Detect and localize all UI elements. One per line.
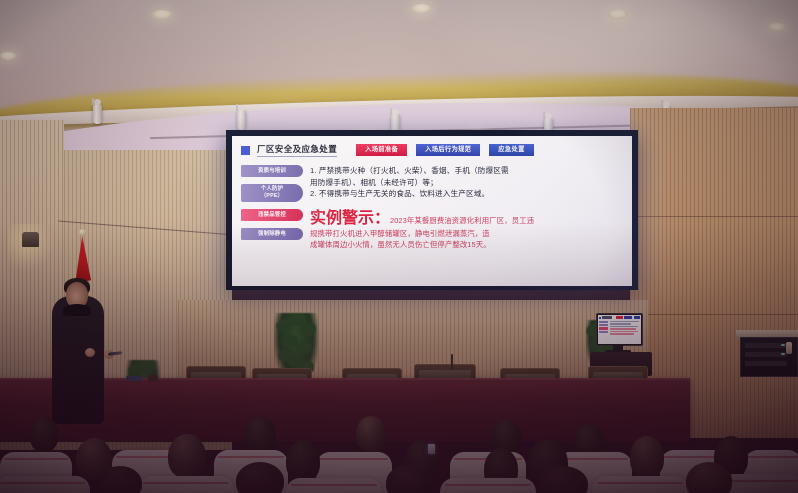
- monitor-screen-content: [598, 315, 641, 344]
- audience-head: [30, 418, 58, 452]
- audience-seat[interactable]: [440, 478, 536, 493]
- monitor-mini-body: [599, 321, 640, 335]
- slide-line: 用防爆手机）、相机（未经许可）等；: [310, 177, 623, 189]
- slide-text-block: 1. 严禁携带火种（打火机、火柴）、香烟、手机（防爆区需 用防爆手机）、相机（未…: [310, 165, 623, 250]
- audience-head: [630, 436, 664, 478]
- warning-line: 规携带打火机进入甲醇储罐区，静电引燃泄漏蒸汽，造: [310, 228, 623, 239]
- audience-seat[interactable]: [286, 478, 382, 493]
- monitor-mini-sidebar: [599, 321, 608, 335]
- monitor-mini-pill: [599, 327, 608, 329]
- audience-head: [236, 462, 284, 493]
- podium-item: [148, 375, 158, 381]
- slide-title: 厂区安全及应急处置: [257, 143, 337, 157]
- presenter-hand: [85, 348, 95, 357]
- downlight-icon: [152, 10, 172, 19]
- presenter-collar: [63, 304, 91, 316]
- downlight-icon: [608, 10, 628, 19]
- slide-warning-block: 实例警示：2023年某餐厨费油资源化利用厂区，员工违 规携带打火机进入甲醇储罐区…: [310, 204, 623, 250]
- audience-head: [168, 434, 206, 478]
- sidebar-item-qualification-training[interactable]: 资质与培训: [241, 165, 303, 177]
- sidebar-item-prohibited-items[interactable]: 违禁品管控: [241, 209, 303, 221]
- audience-head: [98, 466, 142, 493]
- audience-seat[interactable]: [592, 476, 688, 493]
- audience-head: [244, 416, 276, 454]
- audience-head: [686, 462, 732, 493]
- rack-status-led: [781, 344, 785, 346]
- warning-line: 成罐体周边小火情，虽然无人员伤亡但停产整改15天。: [310, 239, 623, 250]
- warning-line: 2023年某餐厨费油资源化利用厂区，员工违: [390, 216, 534, 225]
- meeting-room-scene: 厂区安全及应急处置 入场前准备 入场后行为规范 应急处置 资质与培训 个人防护（…: [0, 0, 798, 493]
- monitor-mini-pill: [599, 321, 608, 323]
- downlight-icon: [768, 23, 786, 31]
- slide-tabs: 入场前准备 入场后行为规范 应急处置: [356, 144, 534, 155]
- podium-microphone: [451, 354, 453, 370]
- tab-post-entry-conduct[interactable]: 入场后行为规范: [416, 144, 480, 155]
- audience-seat[interactable]: [138, 476, 234, 493]
- monitor-mini-tab: [616, 316, 623, 319]
- rack-panel: [745, 361, 787, 366]
- blue-square-icon: [599, 317, 601, 319]
- monitor-mini-pill: [599, 324, 608, 326]
- wall-sconce: [22, 232, 39, 247]
- monitor-mini-line: [610, 323, 632, 324]
- audience-seat[interactable]: [0, 476, 90, 493]
- presentation-slide: 厂区安全及应急处置 入场前准备 入场后行为规范 应急处置 资质与培训 个人防护（…: [232, 136, 632, 286]
- monitor-mini-title: [602, 316, 612, 319]
- monitor-mini-tab: [634, 316, 640, 319]
- blue-square-icon: [241, 146, 250, 155]
- slide-line: 2. 不得携带与生产无关的食品、饮料进入生产区域。: [310, 188, 623, 200]
- slide-sidebar: 资质与培训 个人防护（PPE） 违禁品管控 强制除静电: [241, 165, 303, 250]
- slide-line: 1. 严禁携带火种（打火机、火柴）、香烟、手机（防爆区需: [310, 165, 623, 177]
- audience-head: [356, 416, 386, 452]
- monitor-mini-pill: [599, 331, 608, 333]
- monitor-mini-line: [610, 328, 637, 329]
- rack-status-led: [781, 353, 785, 355]
- audience-phone: [428, 444, 435, 454]
- warning-label: 实例警示：: [310, 210, 390, 227]
- monitor-mini-line: [610, 331, 639, 332]
- flag-finial: [79, 229, 86, 236]
- confidence-monitor[interactable]: [596, 313, 643, 346]
- led-screen[interactable]: 厂区安全及应急处置 入场前准备 入场后行为规范 应急处置 资质与培训 个人防护（…: [232, 136, 632, 286]
- sidebar-item-static-discharge[interactable]: 强制除静电: [241, 228, 303, 240]
- monitor-mini-line: [610, 326, 638, 327]
- monitor-mini-lines: [610, 321, 641, 335]
- tab-emergency-response[interactable]: 应急处置: [489, 144, 533, 155]
- slide-body: 资质与培训 个人防护（PPE） 违禁品管控 强制除静电 1. 严禁携带火种（打火…: [241, 165, 623, 250]
- monitor-mini-header: [599, 316, 640, 319]
- monitor-mini-line: [610, 321, 639, 322]
- rack-side-light: [786, 342, 792, 354]
- tab-pre-entry-prep[interactable]: 入场前准备: [356, 144, 407, 155]
- monitor-mini-line: [610, 333, 634, 334]
- slide-header: 厂区安全及应急处置 入场前准备 入场后行为规范 应急处置: [241, 143, 623, 157]
- downlight-icon: [0, 52, 16, 60]
- audience-head: [286, 440, 320, 482]
- podium-item: [126, 376, 142, 381]
- downlight-icon: [412, 4, 431, 13]
- sidebar-item-ppe[interactable]: 个人防护（PPE）: [241, 184, 303, 203]
- monitor-mini-tab: [624, 316, 632, 319]
- wall-sconce-glow: [8, 224, 54, 270]
